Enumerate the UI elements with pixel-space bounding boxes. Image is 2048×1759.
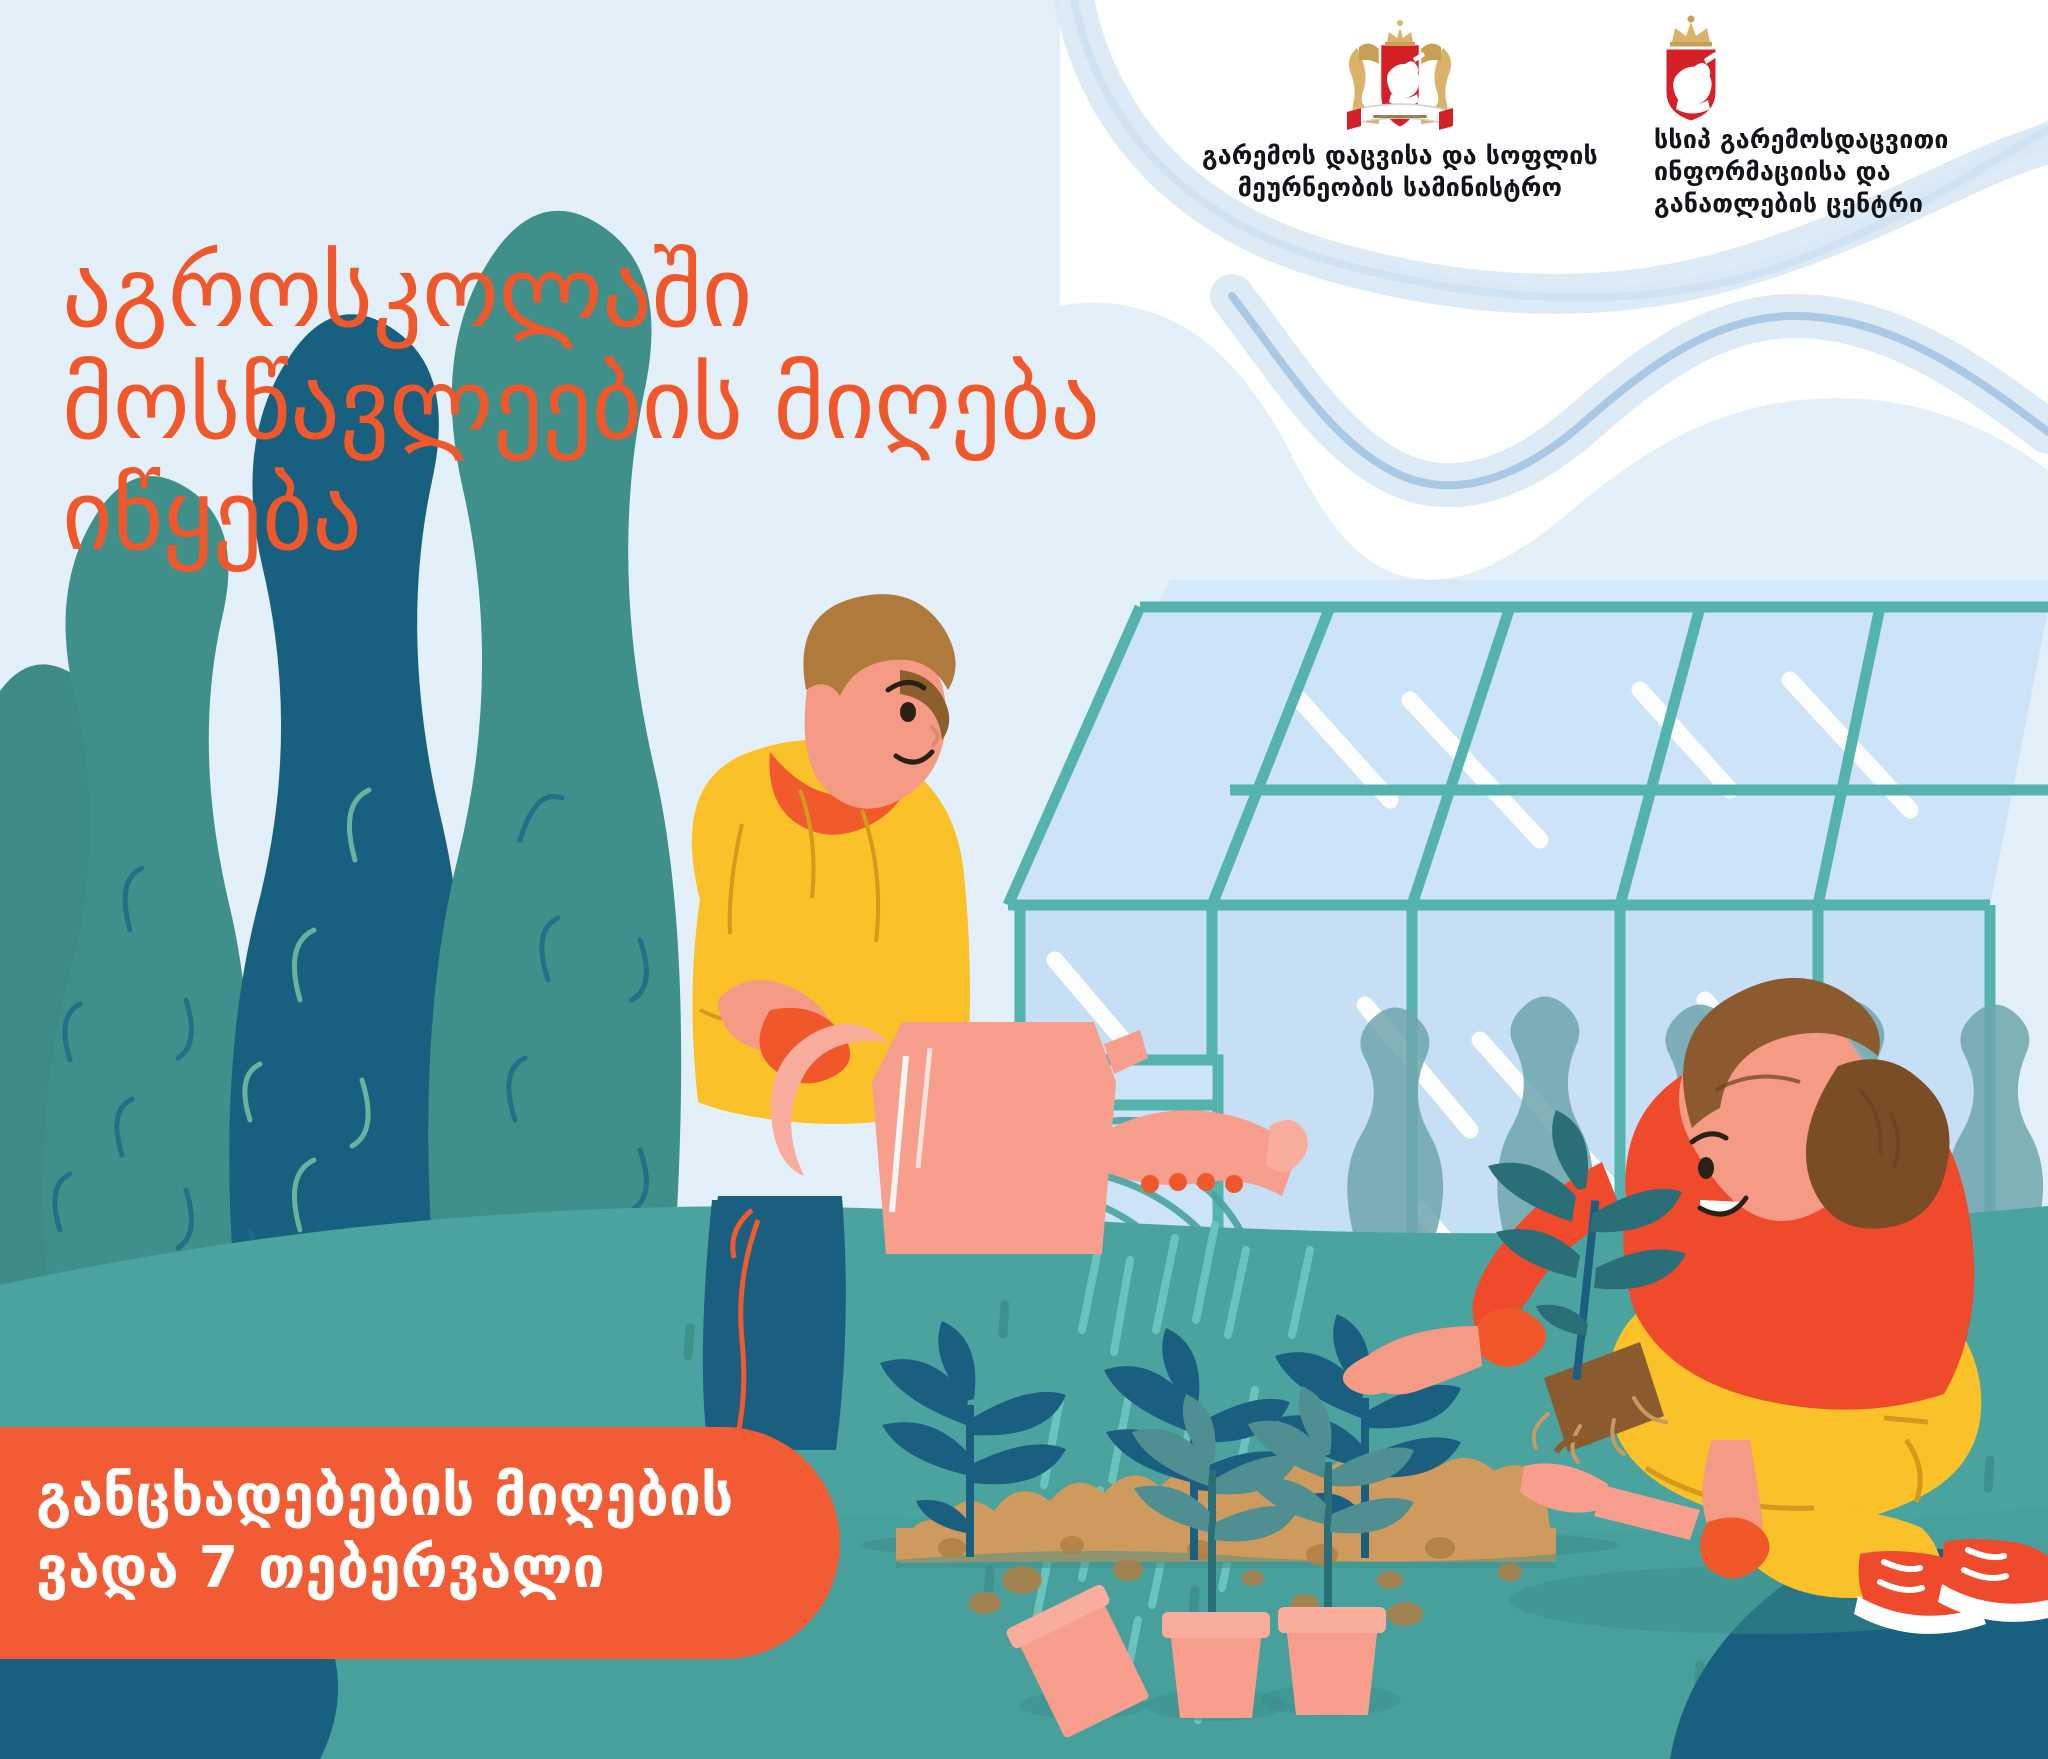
center-caption-line-3: განათლების ცენტრი xyxy=(1654,188,1978,220)
ministry-logo-caption: გარემოს დაცვისა და სოფლის მეურნეობის სამ… xyxy=(1200,140,1600,204)
headline-line-3: იწყება xyxy=(62,461,1242,573)
headline-line-1: აგროსკოლაში xyxy=(62,238,1242,350)
ministry-logo-block: გარემოს დაცვისა და სოფლის მეურნეობის სამ… xyxy=(1200,14,1600,204)
sneakers xyxy=(1854,1539,2048,1634)
ministry-caption-line-2: მეურნეობის სამინისტრო xyxy=(1200,172,1600,204)
georgia-shield-crown-icon xyxy=(1652,14,1730,124)
deadline-line-1: განცხადებების მიღების xyxy=(36,1461,800,1533)
page-title: აგროსკოლაში მოსწავლეების მიღება იწყება xyxy=(62,238,1242,573)
deadline-banner: განცხადებების მიღების ვადა 7 თებერვალი xyxy=(0,1427,840,1659)
poster-canvas: გარემოს დაცვისა და სოფლის მეურნეობის სამ… xyxy=(0,0,2048,1759)
center-caption-line-1: სსიპ გარემოსდაცვითი xyxy=(1654,124,1978,156)
center-logo-caption: სსიპ გარემოსდაცვითი ინფორმაციისა და განა… xyxy=(1648,124,1978,220)
ministry-caption-line-1: გარემოს დაცვისა და სოფლის xyxy=(1200,140,1600,172)
center-caption-line-2: ინფორმაციისა და xyxy=(1654,156,1978,188)
center-logo-block: სსიპ გარემოსდაცვითი ინფორმაციისა და განა… xyxy=(1648,14,1978,220)
deadline-line-2: ვადა 7 თებერვალი xyxy=(36,1533,800,1605)
headline-line-2: მოსწავლეების მიღება xyxy=(62,350,1242,462)
georgia-coat-of-arms-icon xyxy=(1339,14,1461,140)
